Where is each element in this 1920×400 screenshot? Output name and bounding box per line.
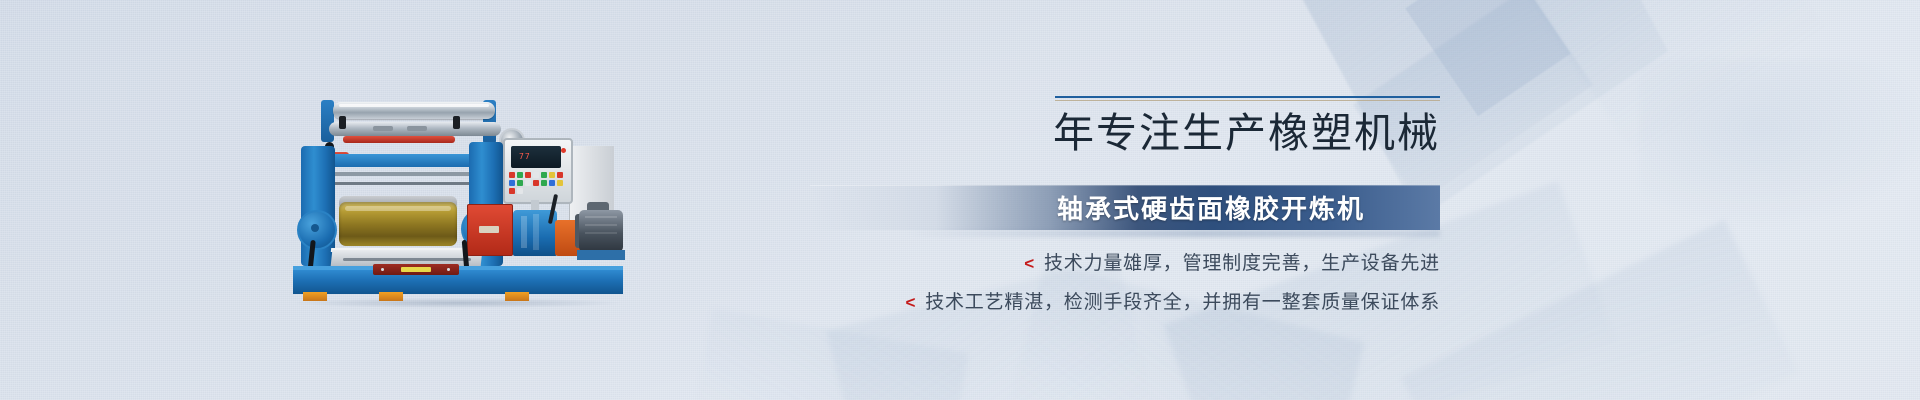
headline-rule: [1055, 96, 1440, 98]
banner-copy: 年专注生产橡塑机械 轴承式硬齿面橡胶开炼机 <技术力量雄厚，管理制度完善，生产设…: [0, 0, 1920, 400]
banner-headline: 年专注生产橡塑机械: [0, 106, 1440, 160]
feature-list: <技术力量雄厚，管理制度完善，生产设备先进 <技术工艺精湛，检测手段齐全，并拥有…: [0, 248, 1440, 326]
ribbon-drop-shadow: [905, 230, 1440, 237]
product-name-ribbon: 轴承式硬齿面橡胶开炼机: [810, 185, 1440, 230]
hero-banner: 77: [0, 0, 1920, 400]
feature-list-item-label: 技术力量雄厚，管理制度完善，生产设备先进: [1044, 252, 1440, 274]
feature-list-item: <技术工艺精湛，检测手段齐全，并拥有一整套质量保证体系: [0, 287, 1440, 314]
feature-list-item-label: 技术工艺精湛，检测手段齐全，并拥有一整套质量保证体系: [925, 291, 1440, 313]
product-name-label: 轴承式硬齿面橡胶开炼机: [1057, 189, 1440, 226]
chevron-left-icon: <: [905, 293, 916, 312]
chevron-left-icon: <: [1024, 254, 1035, 273]
feature-list-item: <技术力量雄厚，管理制度完善，生产设备先进: [0, 248, 1440, 275]
